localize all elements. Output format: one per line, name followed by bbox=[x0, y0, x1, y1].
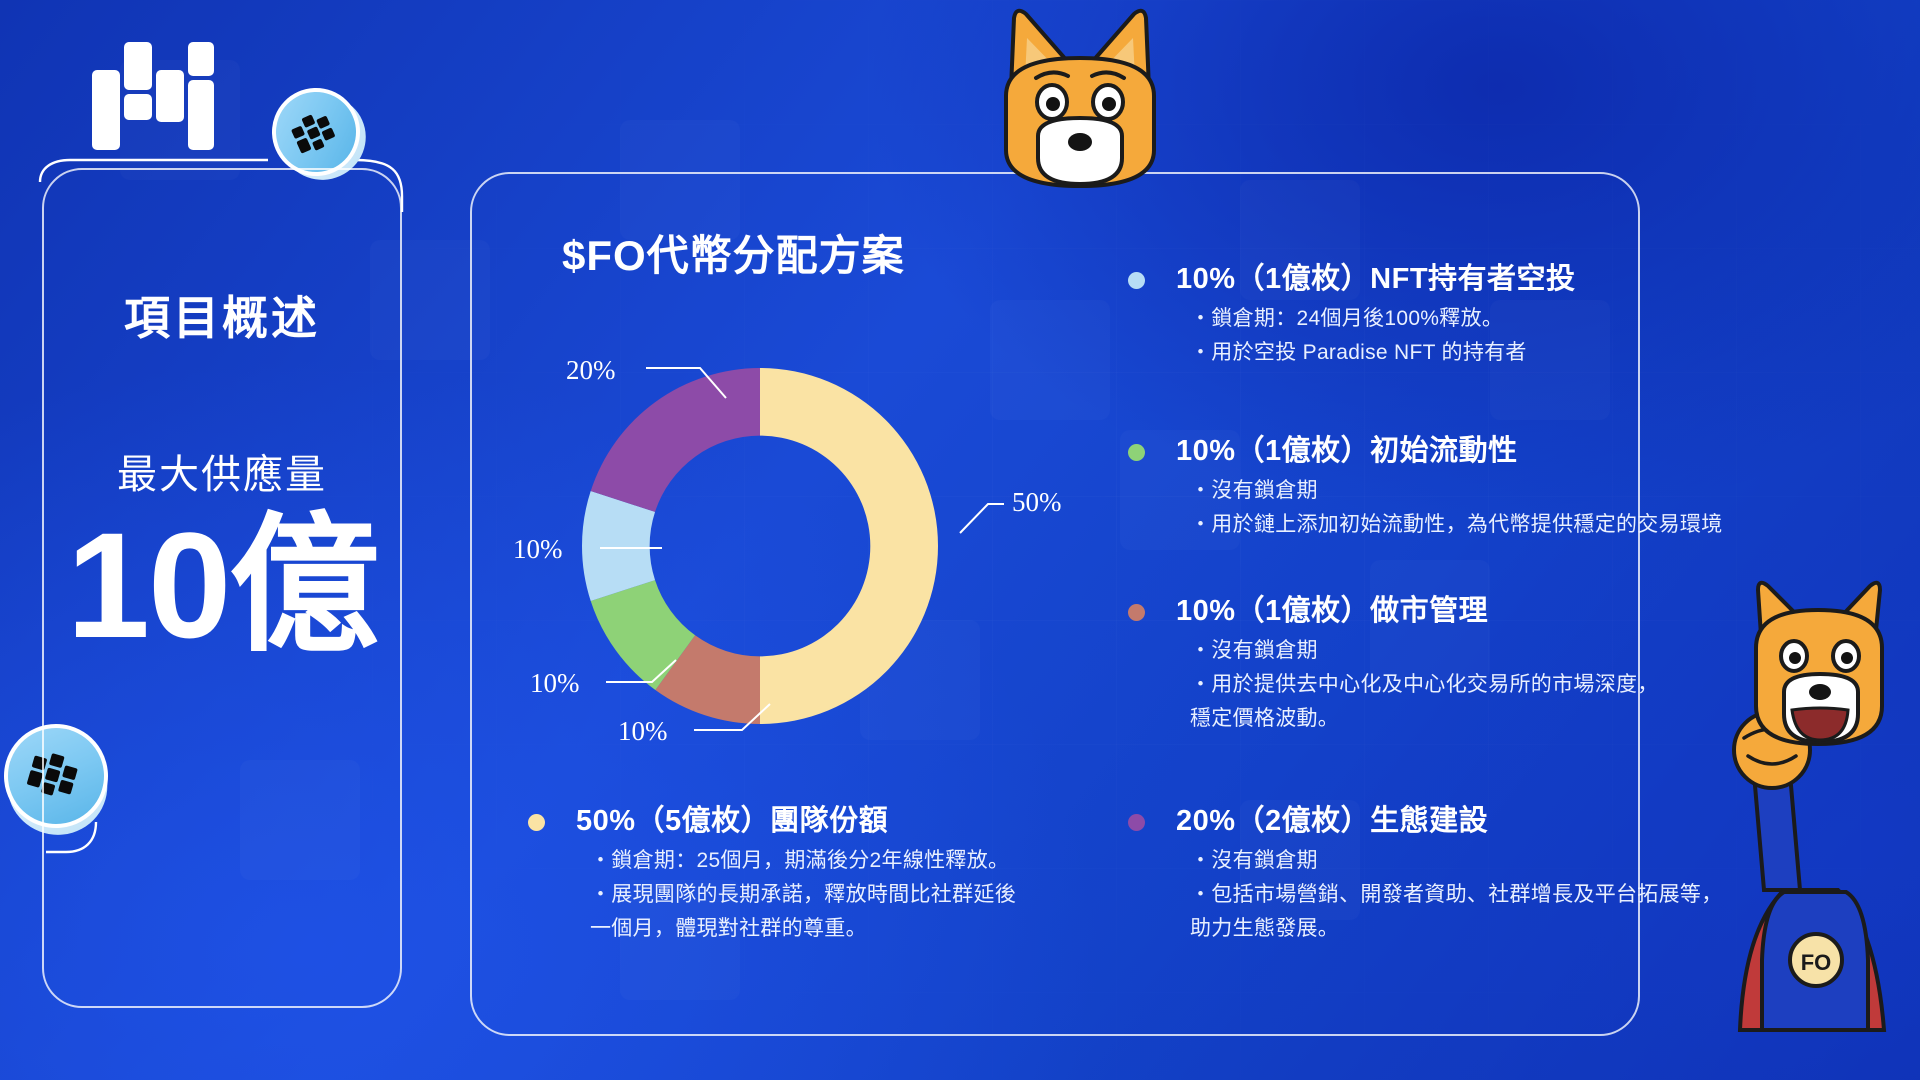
cape-emblem-label: FO bbox=[1801, 950, 1832, 975]
token-distribution-donut-chart bbox=[560, 346, 960, 746]
allocation-bullet: ・鎖倉期：25個月，期滿後分2年線性釋放。 bbox=[590, 844, 1148, 878]
max-supply-value: 10億 bbox=[44, 510, 400, 660]
fox-head-mascot bbox=[980, 0, 1180, 190]
legend-dot-liquidity bbox=[1128, 444, 1145, 461]
project-overview-panel: 項目概述 最大供應量 10億 bbox=[42, 168, 402, 1008]
allocation-bullet: ・用於鏈上添加初始流動性，為代幣提供穩定的交易環境 bbox=[1190, 508, 1788, 542]
donut-label-50: 50% bbox=[1012, 487, 1062, 518]
allocation-item-team: 50%（5億枚）團隊份額 ・鎖倉期：25個月，期滿後分2年線性釋放。 ・展現團隊… bbox=[528, 800, 1148, 946]
donut-label-10-market: 10% bbox=[618, 716, 668, 747]
allocation-bullet: ・用於空投 Paradise NFT 的持有者 bbox=[1190, 336, 1768, 370]
allocation-item-airdrop: 10%（1億枚）NFT持有者空投 ・鎖倉期：24個月後100%釋放。 ・用於空投… bbox=[1128, 258, 1768, 370]
fox-hero-mascot: FO bbox=[1688, 560, 1920, 1080]
allocation-bullet: ・展現團隊的長期承諾，釋放時間比社群延後 bbox=[590, 878, 1148, 912]
legend-dot-airdrop bbox=[1128, 272, 1145, 289]
legend-dot-market-making bbox=[1128, 604, 1145, 621]
chart-title: $FO代幣分配方案 bbox=[562, 222, 905, 283]
donut-label-10-liquidity: 10% bbox=[530, 668, 580, 699]
max-supply-label: 最大供應量 bbox=[44, 442, 400, 500]
allocation-heading: 10%（1億枚）初始流動性 bbox=[1176, 430, 1788, 474]
fo-logo bbox=[92, 42, 212, 150]
donut-label-10-airdrop: 10% bbox=[513, 534, 563, 565]
legend-dot-team bbox=[528, 814, 545, 831]
donut-slice-團隊份額 bbox=[760, 368, 938, 724]
allocation-bullet: ・沒有鎖倉期 bbox=[1190, 474, 1788, 508]
allocation-heading: 10%（1億枚）NFT持有者空投 bbox=[1176, 258, 1768, 302]
allocation-bullet: ・鎖倉期：24個月後100%釋放。 bbox=[1190, 302, 1768, 336]
donut-slice-生態建設 bbox=[591, 368, 760, 512]
donut-label-20: 20% bbox=[566, 355, 616, 386]
page-title: 項目概述 bbox=[44, 282, 400, 348]
allocation-item-liquidity: 10%（1億枚）初始流動性 ・沒有鎖倉期 ・用於鏈上添加初始流動性，為代幣提供穩… bbox=[1128, 430, 1788, 542]
allocation-bullet: 一個月，體現對社群的尊重。 bbox=[590, 912, 1148, 946]
allocation-heading: 50%（5億枚）團隊份額 bbox=[576, 800, 1148, 844]
donut-svg bbox=[560, 346, 960, 746]
